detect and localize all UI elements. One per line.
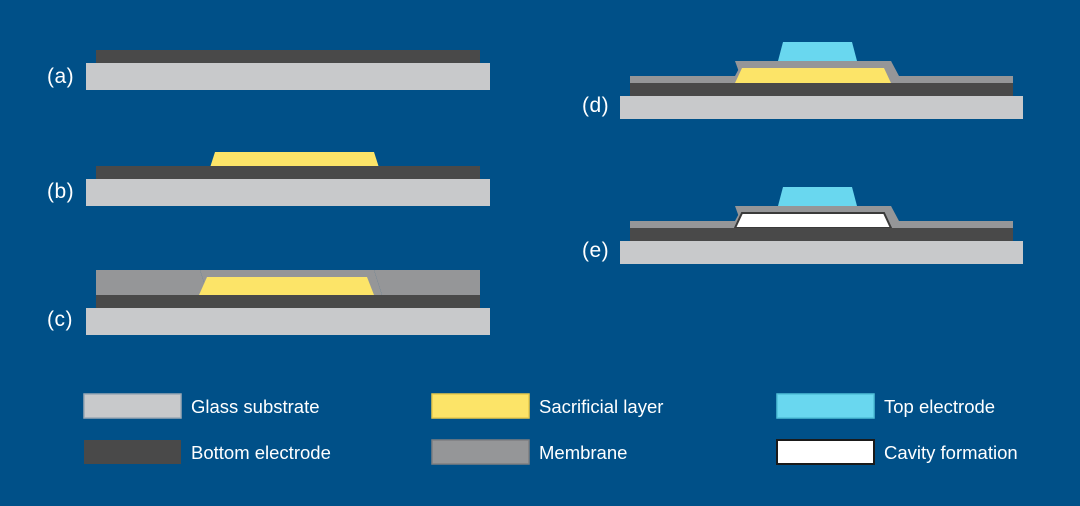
panel-c-glass-substrate: [86, 308, 490, 335]
panel-a-glass-substrate: [86, 63, 490, 90]
legend-label-membrane: Membrane: [539, 442, 627, 463]
process-flow-diagram: (a) (b) (c) (d): [0, 0, 1080, 506]
legend-swatch-membrane: [432, 440, 529, 464]
legend-label-top-electrode: Top electrode: [884, 396, 995, 417]
panel-b-bottom-electrode: [96, 166, 480, 179]
legend-label-cavity-formation: Cavity formation: [884, 442, 1018, 463]
panel-d-glass-substrate: [620, 96, 1023, 119]
legend-swatch-sacrificial-layer: [432, 394, 529, 418]
legend-item-glass-substrate: Glass substrate: [84, 394, 320, 418]
panel-e-bottom-electrode: [630, 228, 1013, 241]
legend-label-bottom-electrode: Bottom electrode: [191, 442, 331, 463]
panel-e-cavity: [735, 213, 891, 228]
panel-d-sacrificial-layer: [735, 68, 891, 83]
legend-item-cavity-formation: Cavity formation: [777, 440, 1018, 464]
figure-root: (a) (b) (c) (d): [0, 0, 1080, 506]
legend-item-membrane: Membrane: [432, 440, 627, 464]
legend-item-bottom-electrode: Bottom electrode: [84, 440, 331, 464]
panel-c-label: (c): [47, 308, 73, 331]
legend-item-top-electrode: Top electrode: [777, 394, 995, 418]
panel-e-label: (e): [582, 239, 609, 262]
panel-d-top-electrode: [778, 42, 857, 61]
panel-d-label: (d): [582, 94, 609, 117]
panel-b-glass-substrate: [86, 179, 490, 206]
panel-e-glass-substrate: [620, 241, 1023, 264]
legend-swatch-cavity-formation: [777, 440, 874, 464]
legend-swatch-top-electrode: [777, 394, 874, 418]
panel-e-top-electrode: [778, 187, 857, 206]
legend-swatch-glass-substrate: [84, 394, 181, 418]
panel-c-bottom-electrode: [96, 295, 480, 308]
panel-b-label: (b): [47, 180, 74, 203]
panel-a: (a): [47, 50, 490, 90]
panel-d-bottom-electrode: [630, 83, 1013, 96]
legend-item-sacrificial-layer: Sacrificial layer: [432, 394, 663, 418]
panel-c: (c): [47, 270, 490, 335]
panel-a-bottom-electrode: [96, 50, 480, 63]
legend-swatch-bottom-electrode: [84, 440, 181, 464]
legend-label-glass-substrate: Glass substrate: [191, 396, 320, 417]
panel-c-sacrificial-layer: [199, 277, 374, 295]
legend-label-sacrificial-layer: Sacrificial layer: [539, 396, 663, 417]
panel-c-membrane-left: [96, 270, 208, 295]
panel-a-label: (a): [47, 65, 74, 88]
panel-c-membrane-right: [374, 270, 480, 295]
